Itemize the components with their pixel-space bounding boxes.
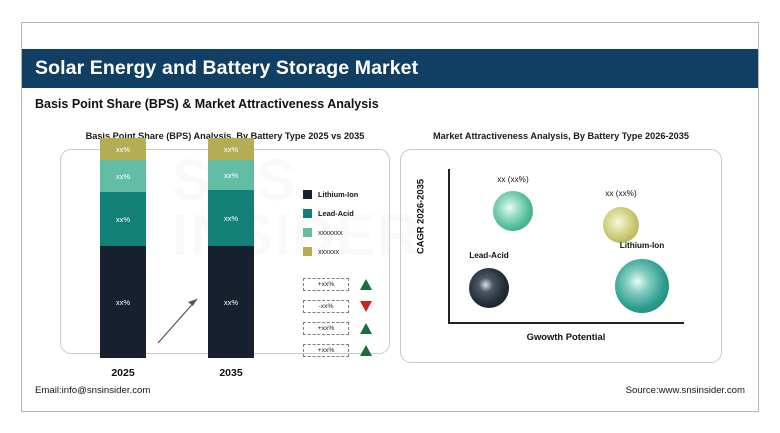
bar-segment: xx% bbox=[100, 138, 146, 160]
delta-row: +xx% bbox=[303, 317, 403, 339]
screenshot-root: SNS INSIDER Solar Energy and Battery Sto… bbox=[0, 0, 780, 433]
year-label-2035: 2035 bbox=[208, 367, 254, 379]
bar-segment: xx% bbox=[100, 192, 146, 246]
bubble-lead-acid-label: Lead-Acid bbox=[449, 251, 529, 260]
delta-badge: +xx% bbox=[303, 344, 349, 357]
bar-segment: xx% bbox=[208, 138, 254, 160]
footer-email: Email:info@snsinsider.com bbox=[35, 385, 150, 396]
arrow-down-icon bbox=[360, 301, 372, 312]
bps-legend: Lithium-Ion Lead-Acid xxxxxxx xxxxxx bbox=[303, 185, 393, 261]
delta-badge: +xx% bbox=[303, 278, 349, 291]
delta-badge: +xx% bbox=[303, 322, 349, 335]
year-label-2025: 2025 bbox=[100, 367, 146, 379]
y-axis-label: CAGR 2026-2035 bbox=[415, 167, 426, 267]
legend-item-lead-acid: Lead-Acid bbox=[303, 204, 393, 223]
y-axis-line bbox=[448, 169, 450, 323]
footer-source: Source:www.snsinsider.com bbox=[626, 385, 745, 396]
x-axis-line bbox=[448, 322, 684, 324]
arrow-up-icon bbox=[360, 345, 372, 356]
delta-badge: -xx% bbox=[303, 300, 349, 313]
legend-swatch-icon bbox=[303, 190, 312, 199]
growth-arrow-icon bbox=[152, 289, 206, 349]
bar-segment: xx% bbox=[208, 190, 254, 246]
bar-column-2025: xx% xx% xx% xx% bbox=[100, 138, 146, 358]
bubble-2 bbox=[603, 207, 639, 243]
legend-item-4: xxxxxx bbox=[303, 242, 393, 261]
bar-column-2035: xx% xx% xx% xx% bbox=[208, 138, 254, 358]
arrow-up-icon bbox=[360, 279, 372, 290]
delta-row: +xx% bbox=[303, 339, 403, 361]
bubble-lithium-ion bbox=[615, 259, 669, 313]
delta-row: +xx% bbox=[303, 273, 403, 295]
legend-swatch-icon bbox=[303, 228, 312, 237]
legend-label: Lithium-Ion bbox=[318, 190, 358, 199]
arrow-up-icon bbox=[360, 323, 372, 334]
bar-segment: xx% bbox=[100, 246, 146, 358]
bubble-lead-acid bbox=[469, 268, 509, 308]
legend-label: xxxxxx bbox=[318, 247, 339, 256]
bps-chart: xx% xx% xx% xx% xx% xx% xx% xx% 2025 203… bbox=[60, 149, 390, 379]
bubble-1 bbox=[493, 191, 533, 231]
report-card: SNS INSIDER Solar Energy and Battery Sto… bbox=[21, 22, 759, 412]
page-title: Solar Energy and Battery Storage Market bbox=[22, 57, 418, 80]
legend-label: Lead-Acid bbox=[318, 209, 354, 218]
x-axis-label: Gwowth Potential bbox=[448, 331, 684, 342]
page-subtitle: Basis Point Share (BPS) & Market Attract… bbox=[35, 97, 379, 111]
bubble-1-label: xx (xx%) bbox=[473, 175, 553, 184]
attractiveness-chart: CAGR 2026-2035 Gwowth Potential xx (xx%)… bbox=[400, 149, 722, 363]
bubble-lithium-ion-label: Lithium-Ion bbox=[602, 241, 682, 250]
delta-badges: +xx% -xx% +xx% +xx% bbox=[303, 273, 403, 361]
legend-swatch-icon bbox=[303, 209, 312, 218]
bar-segment: xx% bbox=[208, 246, 254, 358]
legend-item-lithium-ion: Lithium-Ion bbox=[303, 185, 393, 204]
legend-item-3: xxxxxxx bbox=[303, 223, 393, 242]
legend-label: xxxxxxx bbox=[318, 228, 342, 237]
right-chart-title: Market Attractiveness Analysis, By Batte… bbox=[400, 131, 722, 141]
header-bar: Solar Energy and Battery Storage Market bbox=[22, 49, 758, 88]
bar-segment: xx% bbox=[100, 160, 146, 192]
delta-row: -xx% bbox=[303, 295, 403, 317]
bubble-2-label: xx (xx%) bbox=[581, 189, 661, 198]
bar-segment: xx% bbox=[208, 160, 254, 190]
legend-swatch-icon bbox=[303, 247, 312, 256]
